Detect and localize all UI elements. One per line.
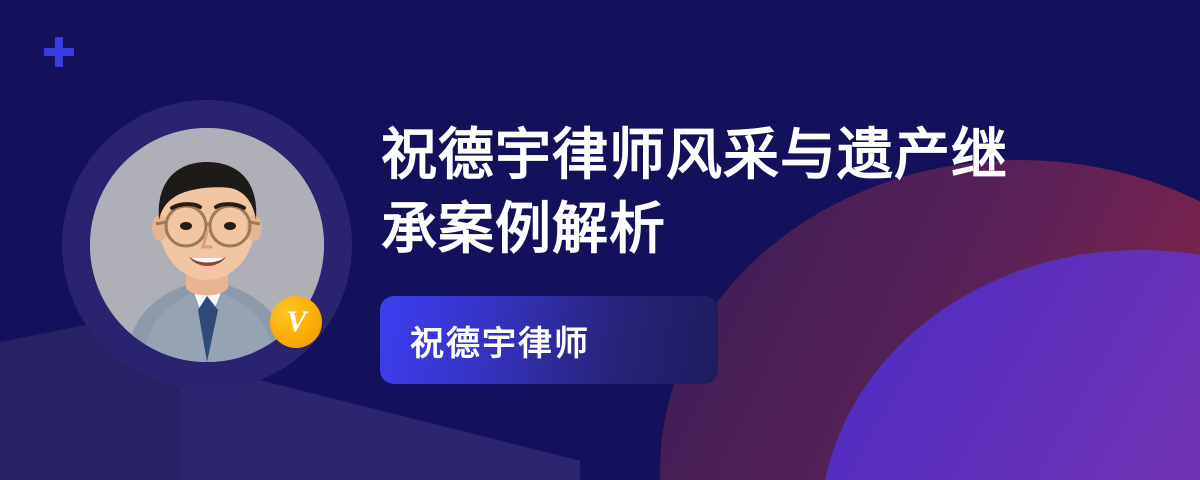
lawyer-name-button[interactable]: 祝德宇律师 bbox=[380, 296, 718, 384]
profile-banner: V 祝德宇律师风采与遗产继 承案例解析 祝德宇律师 bbox=[0, 0, 1200, 480]
verified-badge-letter: V bbox=[286, 307, 305, 337]
avatar: V bbox=[62, 100, 352, 390]
page-title: 祝德宇律师风采与遗产继 承案例解析 bbox=[381, 119, 1081, 267]
verified-badge-icon: V bbox=[270, 296, 322, 348]
plus-icon bbox=[44, 37, 74, 67]
